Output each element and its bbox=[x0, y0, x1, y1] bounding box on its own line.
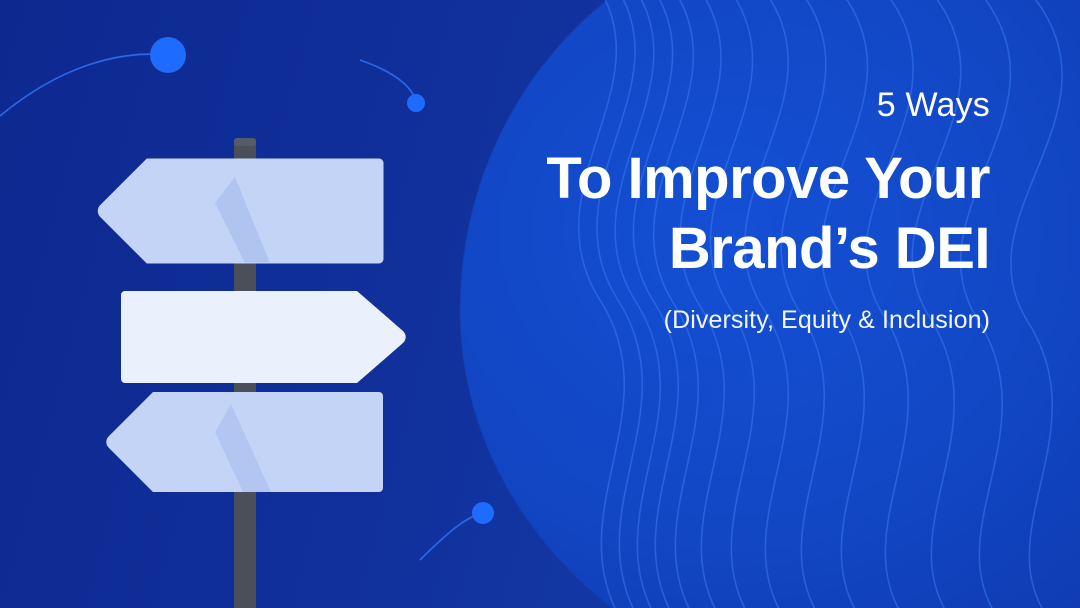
subtitle-text: (Diversity, Equity & Inclusion) bbox=[430, 306, 990, 335]
direction-sign-middle bbox=[119, 287, 409, 387]
direction-sign-top bbox=[95, 155, 385, 270]
eyebrow-text: 5 Ways bbox=[430, 88, 990, 122]
page-title: To Improve Your Brand’s DEI bbox=[430, 144, 990, 284]
headline-block: 5 Ways To Improve Your Brand’s DEI (Dive… bbox=[430, 88, 990, 335]
slide-canvas: 5 Ways To Improve Your Brand’s DEI (Dive… bbox=[0, 0, 1080, 608]
dot-lower bbox=[472, 502, 494, 524]
dot-top-left bbox=[150, 37, 186, 73]
signpost-illustration bbox=[95, 120, 415, 608]
signpost-post-cap bbox=[234, 138, 256, 146]
direction-sign-bottom bbox=[103, 388, 393, 498]
dot-small-upper bbox=[407, 94, 425, 112]
